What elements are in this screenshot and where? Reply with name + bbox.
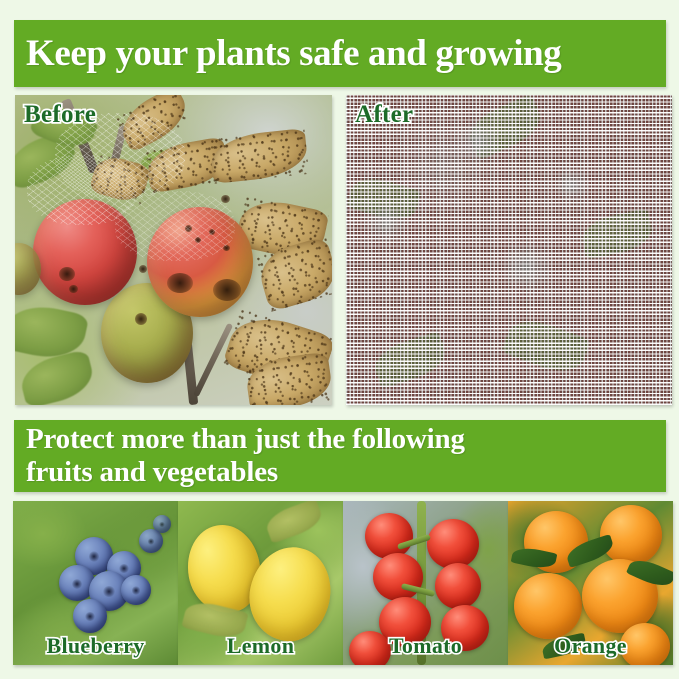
fruit-tile-label: Orange xyxy=(554,633,627,659)
after-photo: After xyxy=(346,95,672,405)
orange-fruit xyxy=(620,623,670,665)
subhead-line-1: Protect more than just the following xyxy=(26,423,654,456)
before-image-card: Before xyxy=(15,95,332,405)
product-feature-poster: Keep your plants safe and growing xyxy=(0,0,679,679)
pest-damage-spot xyxy=(139,265,147,273)
fruit-tile-label: Lemon xyxy=(227,633,295,659)
before-label: Before xyxy=(24,101,96,129)
headline-banner: Keep your plants safe and growing xyxy=(14,20,666,87)
pest-damage-spot xyxy=(213,279,241,301)
blueberry-fruit xyxy=(153,515,171,533)
pest-damage-spot xyxy=(69,285,78,293)
fruit-tile-lemon: Lemon xyxy=(178,501,343,665)
tomato-fruit xyxy=(365,513,413,559)
after-image-card: After xyxy=(346,95,672,405)
after-label: After xyxy=(355,101,413,129)
orange-fruit xyxy=(514,573,582,639)
protective-mesh-sheen xyxy=(346,95,672,405)
pest-damage-spot xyxy=(59,267,75,281)
headline-text: Keep your plants safe and growing xyxy=(26,34,654,74)
pest-damage-spot xyxy=(167,273,193,293)
tomato-fruit xyxy=(373,553,423,601)
blueberry-fruit xyxy=(73,599,107,633)
before-photo: Before xyxy=(15,95,332,405)
blueberry-fruit xyxy=(121,575,151,605)
tomato-fruit xyxy=(435,563,481,609)
fruit-tile-blueberry: Blueberry xyxy=(13,501,178,665)
subhead-banner: Protect more than just the following fru… xyxy=(14,420,666,492)
subhead-line-2: fruits and vegetables xyxy=(26,456,654,489)
fruit-tile-label: Blueberry xyxy=(46,633,144,659)
fruit-tile-orange: Orange xyxy=(508,501,673,665)
pest-damage-spot xyxy=(135,313,147,325)
tomato-fruit xyxy=(349,631,391,665)
spider-webbing xyxy=(115,191,235,261)
fruit-tile-label: Tomato xyxy=(389,633,462,659)
fruit-tile-tomato: Tomato xyxy=(343,501,508,665)
tomato-fruit xyxy=(427,519,479,569)
